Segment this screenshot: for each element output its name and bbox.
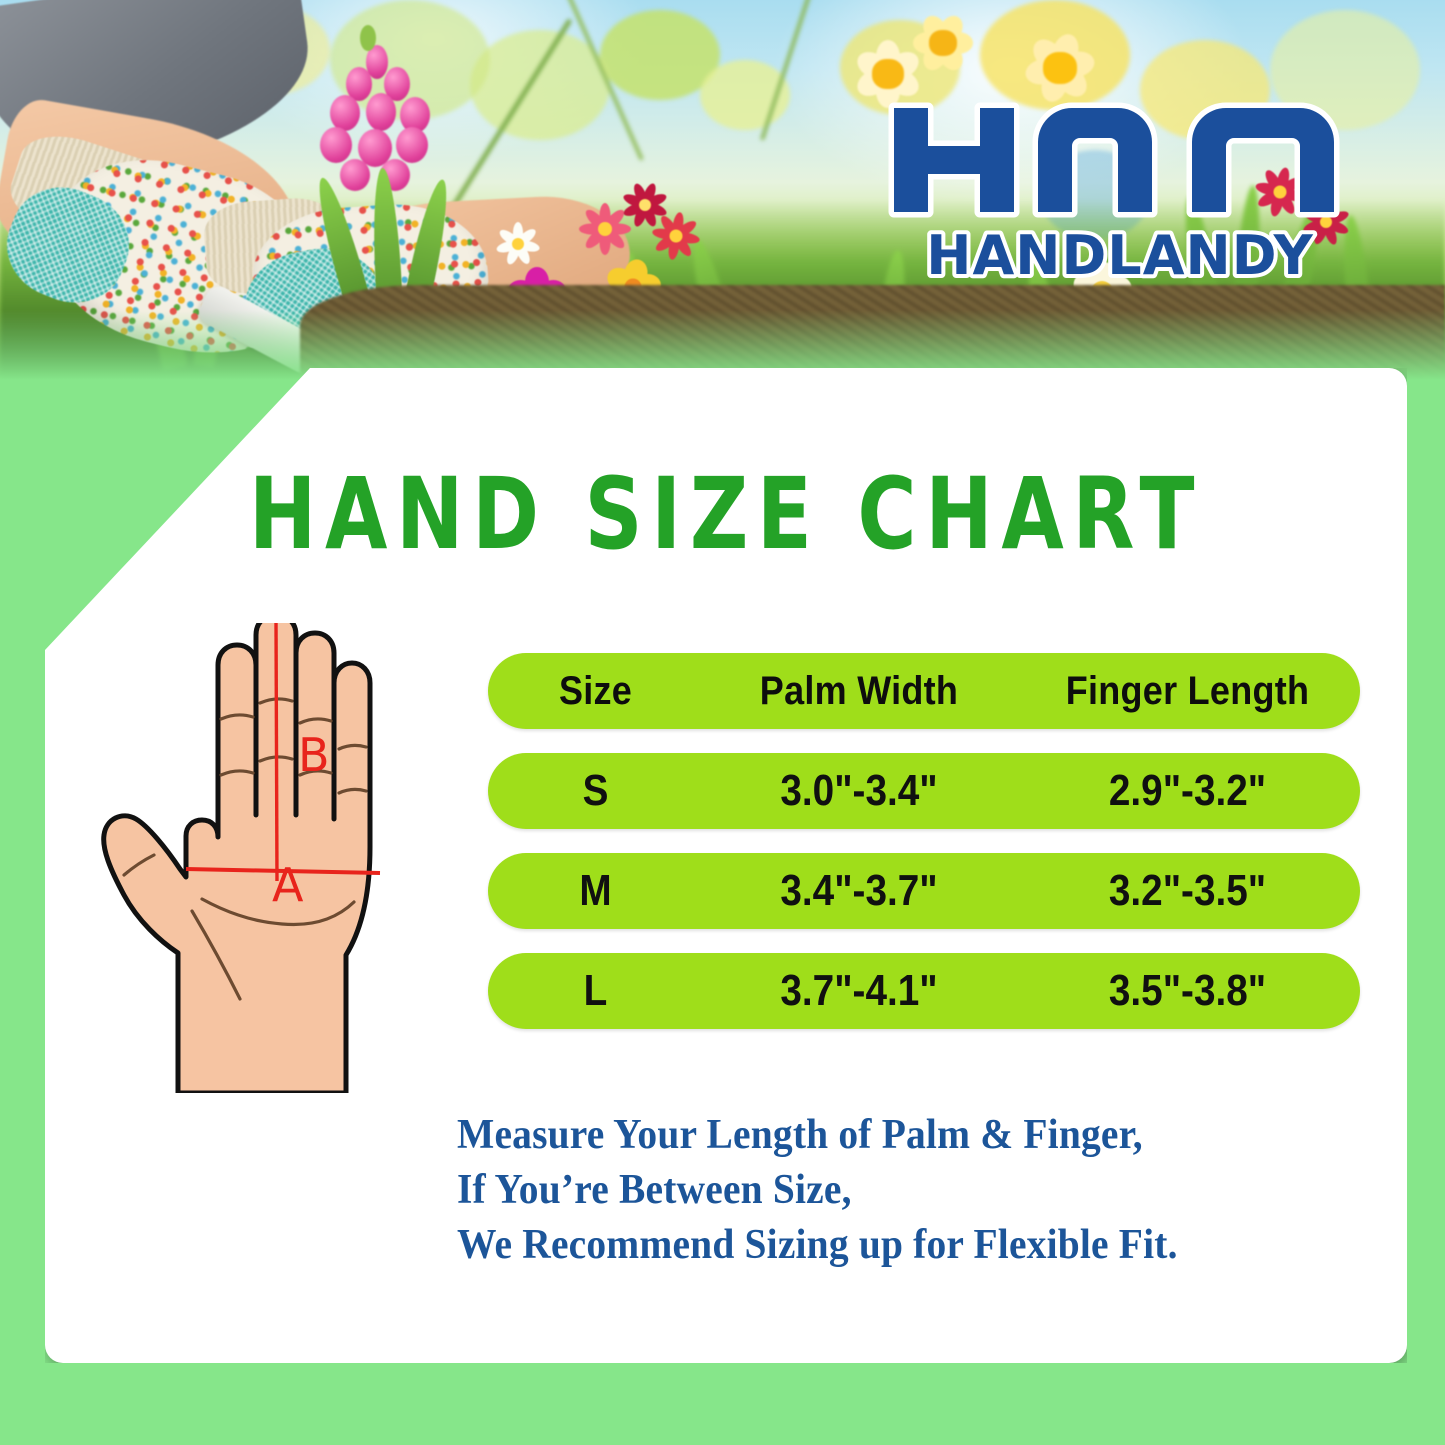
- label-a: A: [272, 858, 304, 912]
- sizing-note-line-3: We Recommend Sizing up for Flexible Fit.: [457, 1218, 1303, 1273]
- cell-size: S: [501, 766, 690, 816]
- cell-palm-width: 3.0"-3.4": [722, 766, 997, 816]
- sizing-note: Measure Your Length of Palm & Finger, If…: [457, 1108, 1303, 1273]
- brand-wordmark: HANDLANDY: [926, 224, 1313, 284]
- label-b: B: [298, 728, 330, 782]
- page-title: HAND SIZE CHART: [72, 456, 1380, 572]
- table-row: S 3.0"-3.4" 2.9"-3.2": [488, 753, 1360, 829]
- cell-palm-width: 3.4"-3.7": [722, 866, 997, 916]
- table-row: M 3.4"-3.7" 3.2"-3.5": [488, 853, 1360, 929]
- table-header-row: Size Palm Width Finger Length: [488, 653, 1360, 729]
- sizing-note-line-2: If You’re Between Size,: [457, 1163, 1303, 1218]
- finger-length-line-b: [276, 623, 277, 881]
- hand-outline: [104, 623, 370, 1093]
- cell-finger-length: 3.2"-3.5": [1036, 866, 1340, 916]
- sizing-note-line-1: Measure Your Length of Palm & Finger,: [457, 1108, 1303, 1163]
- cell-finger-length: 3.5"-3.8": [1036, 966, 1340, 1016]
- column-header-palm-width: Palm Width: [719, 669, 1000, 714]
- daisy-crimson: [616, 176, 674, 234]
- daisy-white: [490, 216, 546, 272]
- size-table: Size Palm Width Finger Length S 3.0"-3.4…: [488, 653, 1360, 1029]
- hand-measurement-diagram: B A: [90, 623, 485, 1093]
- column-header-finger-length: Finger Length: [1032, 669, 1343, 714]
- daffodil-3: [900, 0, 986, 86]
- cell-palm-width: 3.7"-4.1": [722, 966, 997, 1016]
- cell-size: M: [501, 866, 690, 916]
- column-header-size: Size: [499, 669, 693, 714]
- hand-size-chart-page: HANDLANDY HANDLANDY HAND SIZE CHART: [0, 0, 1445, 1445]
- cell-size: L: [501, 966, 690, 1016]
- cell-finger-length: 2.9"-3.2": [1036, 766, 1340, 816]
- handlandy-logo: HANDLANDY HANDLANDY: [880, 92, 1360, 284]
- info-card: HAND SIZE CHART: [45, 368, 1407, 1363]
- table-row: L 3.7"-4.1" 3.5"-3.8": [488, 953, 1360, 1029]
